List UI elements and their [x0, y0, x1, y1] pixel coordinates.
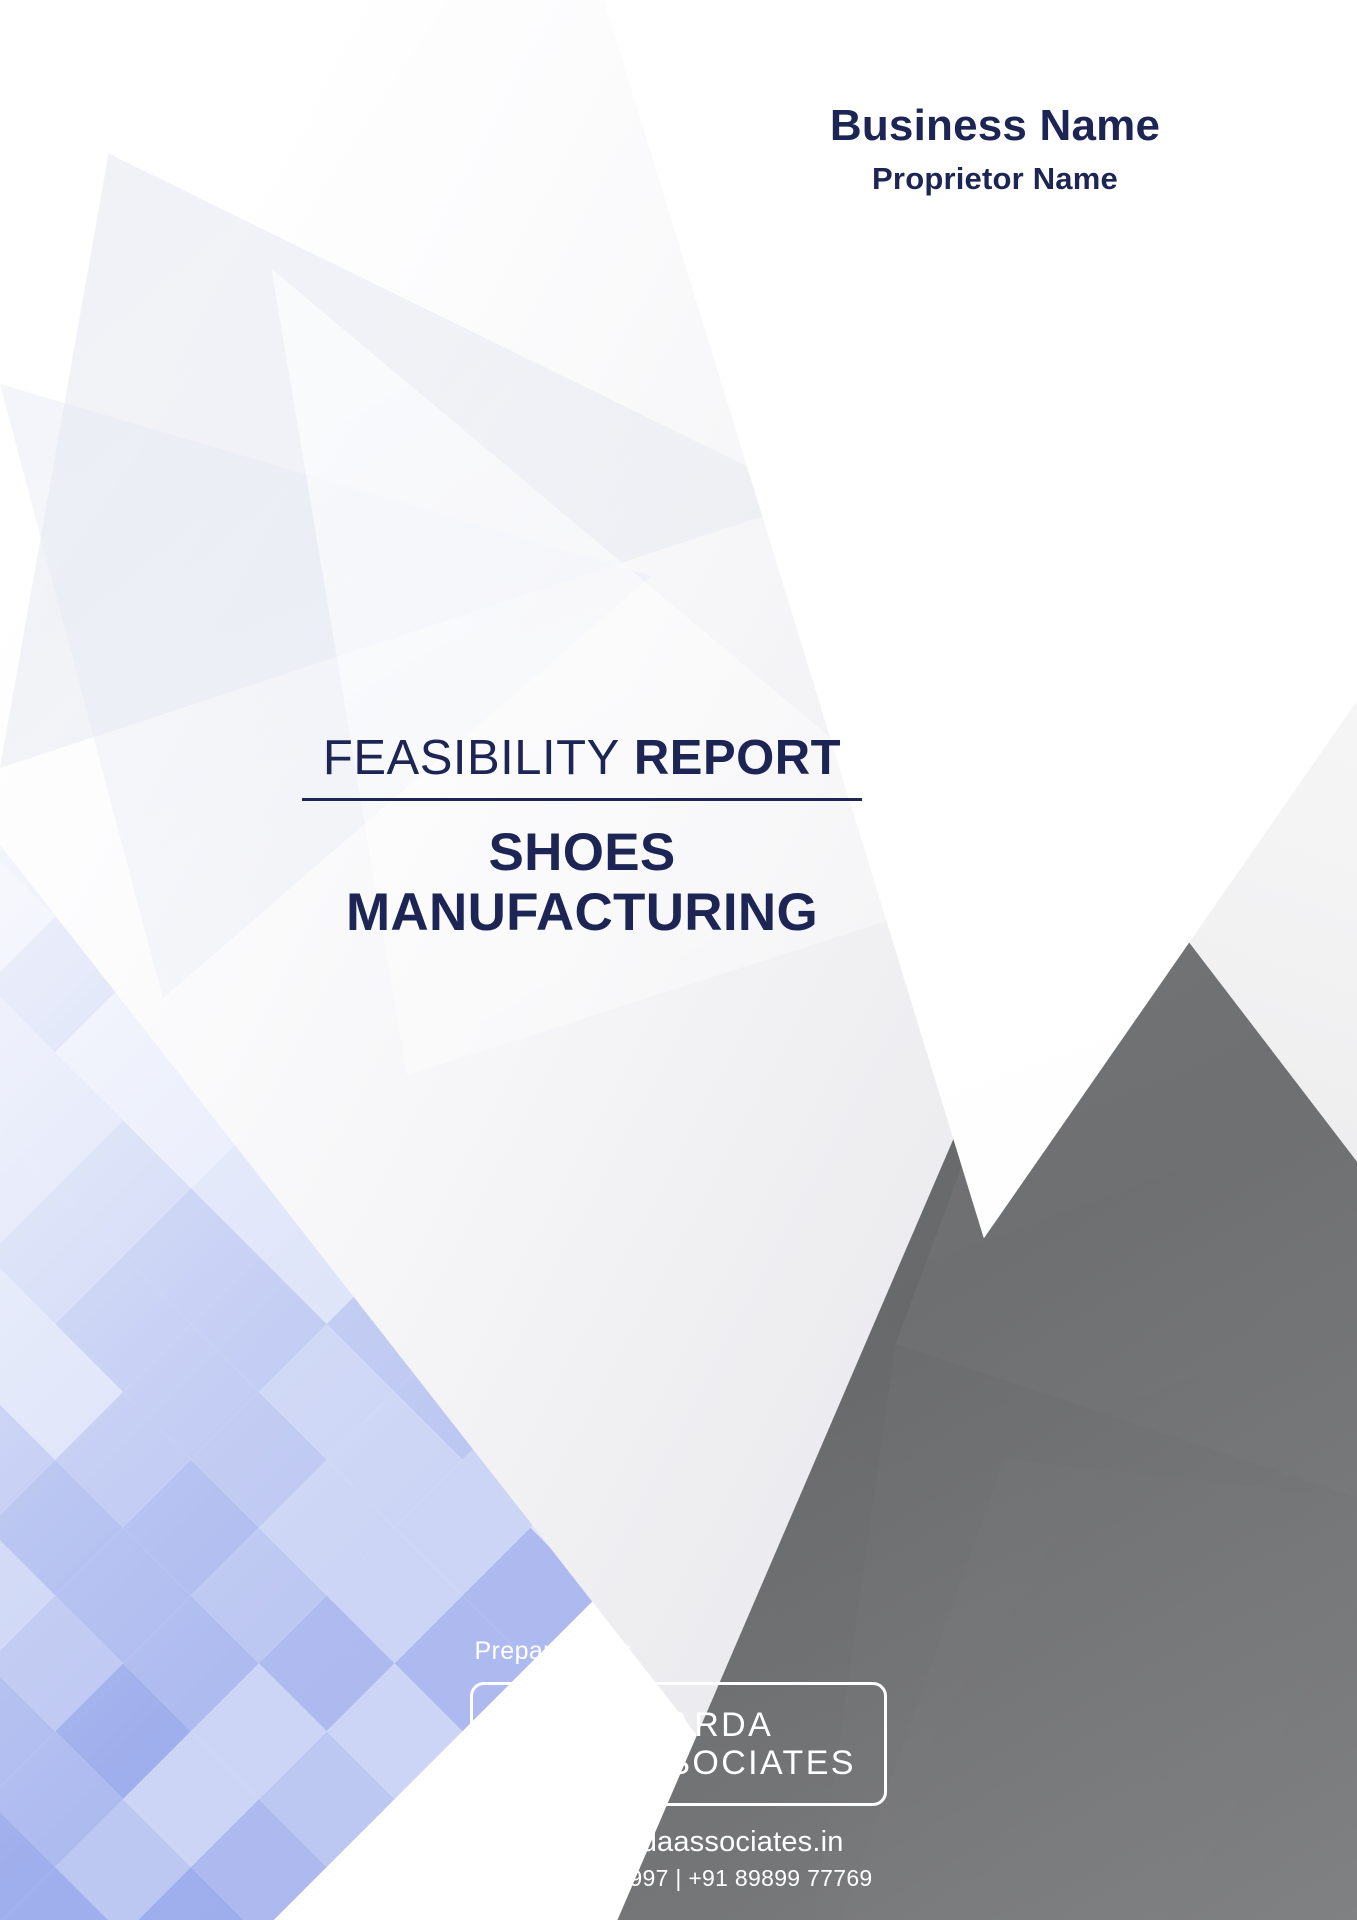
report-title-light-word: FEASIBILITY [323, 731, 620, 785]
title-underline-rule [302, 798, 862, 801]
logo-word-line-1: SHARDA [617, 1706, 856, 1744]
logo-wordmark: SHARDA ASSOCIATES [617, 1706, 856, 1782]
report-cover-page: Business Name Proprietor Name FEASIBILIT… [0, 0, 1357, 1920]
proprietor-name: Proprietor Name [715, 160, 1275, 199]
header-block: Business Name Proprietor Name [715, 100, 1275, 199]
footer-block: Prepared By : SHARDA ASSOCIATES www.shar… [0, 1637, 1357, 1892]
report-title-bold-word: REPORT [634, 731, 841, 785]
title-block: FEASIBILITY REPORT SHOES MANUFACTURING [232, 730, 932, 944]
phone-numbers: +91 94250 08997 | +91 89899 77769 [0, 1865, 1357, 1892]
sharda-associates-logo: SHARDA ASSOCIATES [470, 1682, 887, 1806]
prepared-by-label: Prepared By : [0, 1637, 1357, 1666]
report-subject-line-2: MANUFACTURING [232, 883, 932, 943]
report-title-line: FEASIBILITY REPORT [232, 730, 932, 786]
logo-word-line-2: ASSOCIATES [617, 1744, 856, 1782]
website-url[interactable]: www.shardaassociates.in [0, 1826, 1357, 1859]
report-subject-line-1: SHOES [232, 823, 932, 883]
sa-monogram-icon [499, 1701, 595, 1787]
report-subject: SHOES MANUFACTURING [232, 823, 932, 944]
business-name: Business Name [715, 100, 1275, 152]
